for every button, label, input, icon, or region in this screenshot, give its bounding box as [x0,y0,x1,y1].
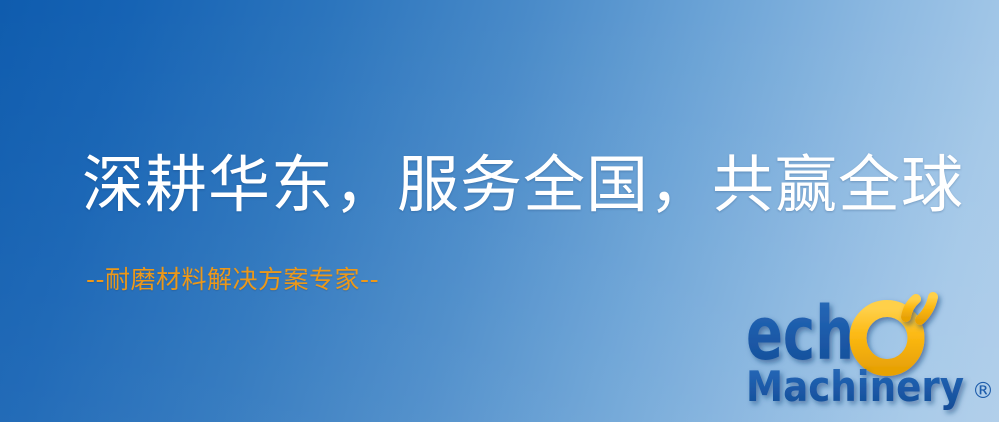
hero-banner: 深耕华东，服务全国，共赢全球 --耐磨材料解决方案专家-- [0,0,999,422]
brand-logo[interactable]: ech Machinery ® [744,296,999,422]
page-subtitle: --耐磨材料解决方案专家-- [86,266,379,295]
page-title: 深耕华东，服务全国，共赢全球 [82,152,964,217]
echo-signal-arcs-icon [906,297,933,320]
registered-trademark-icon: ® [972,379,994,404]
logo-tagline: Machinery [746,362,964,411]
logo-machinery-text: Machinery [746,362,964,411]
